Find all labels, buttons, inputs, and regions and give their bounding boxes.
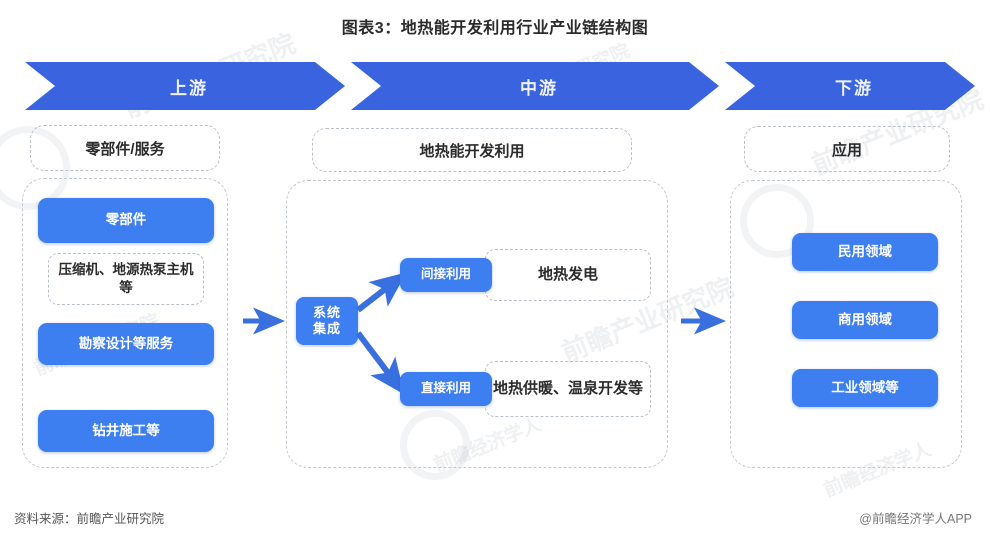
midstream-tag-direct-use[interactable]: 直接利用 [400,372,492,406]
banner-segment-upstream[interactable]: 上游 [25,62,345,110]
app-watermark: @前瞻经济学人APP [859,508,972,527]
midstream-hub-label: 系统集成 [313,305,342,338]
midstream-header: 地热能开发利用 [312,128,632,172]
chart-canvas: 前瞻产业研究院 前瞻产业研究院 前瞻产业研究院 前瞻产业研究院 前瞻产业研究院 … [0,0,990,546]
value-chain-banner: 上游 中游 下游 [25,62,975,110]
upstream-item-compressor: 压缩机、地源热泵主机等 [48,253,204,305]
upstream-item-drilling[interactable]: 钻井施工等 [38,410,214,452]
source-note: 资料来源：前瞻产业研究院 [14,508,164,527]
banner-segment-label: 上游 [170,74,208,99]
banner-segment-downstream[interactable]: 下游 [725,62,975,110]
midstream-detail-heating-hotspring: 地热供暖、温泉开发等 [485,361,651,417]
upstream-header: 零部件/服务 [30,125,220,171]
downstream-item-commercial[interactable]: 商用领域 [792,301,938,339]
banner-segment-midstream[interactable]: 中游 [351,62,719,110]
page-title: 图表3：地热能开发利用行业产业链结构图 [0,14,990,38]
upstream-item-survey-design[interactable]: 勘察设计等服务 [38,323,214,365]
midstream-detail-label: 地热供暖、温泉开发等 [493,379,643,399]
downstream-header: 应用 [744,126,950,172]
midstream-hub-system-integration[interactable]: 系统集成 [296,297,358,345]
midstream-tag-indirect-use[interactable]: 间接利用 [400,258,492,292]
downstream-item-industrial[interactable]: 工业领域等 [792,369,938,407]
downstream-item-residential[interactable]: 民用领域 [792,233,938,271]
banner-segment-label: 下游 [835,74,873,99]
upstream-item-parts[interactable]: 零部件 [38,198,214,243]
banner-segment-label: 中游 [520,74,558,99]
midstream-detail-power-generation: 地热发电 [485,249,651,301]
